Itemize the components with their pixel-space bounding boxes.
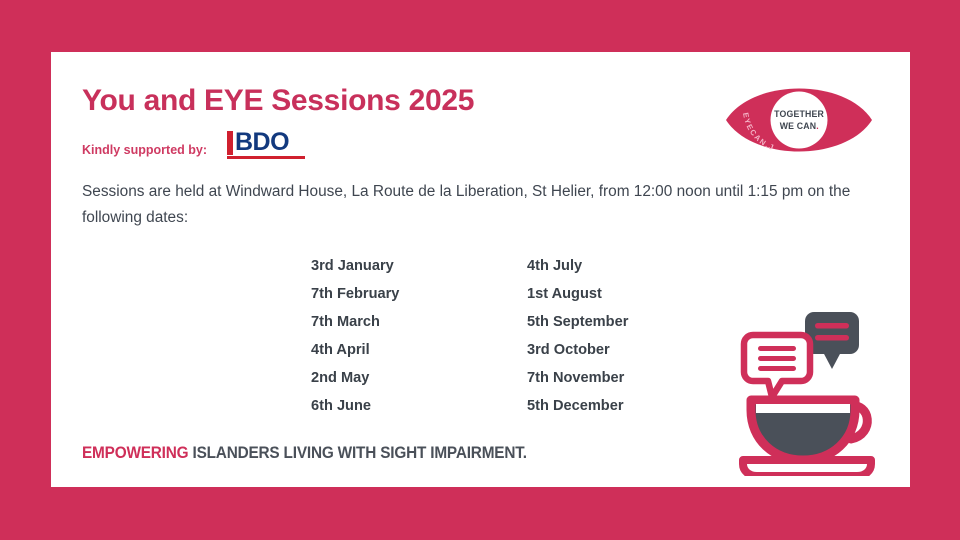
eye-pupil-circle	[771, 92, 828, 149]
speech-bubble-light-icon	[744, 335, 810, 397]
page-title: You and EYE Sessions 2025	[82, 84, 474, 118]
list-item: 2nd May	[311, 364, 527, 392]
supported-by-label: Kindly supported by:	[82, 143, 207, 157]
list-item: 6th June	[311, 392, 527, 420]
bdo-underline-shape	[227, 156, 305, 160]
footer-tagline: EMPOWERING ISLANDERS LIVING WITH SIGHT I…	[82, 444, 527, 463]
list-item: 4th July	[527, 252, 743, 280]
eyecan-eye-logo: EYECAN.JE TOGETHER WE CAN.	[723, 74, 875, 166]
white-content-card: You and EYE Sessions 2025 Kindly support…	[51, 52, 910, 487]
list-item: 5th September	[527, 308, 743, 336]
list-item: 3rd October	[527, 336, 743, 364]
list-item: 1st August	[527, 280, 743, 308]
bdo-bracket-shape	[227, 131, 233, 155]
saucer-shape	[743, 460, 871, 476]
list-item: 7th November	[527, 364, 743, 392]
cup-rim-shape	[756, 404, 850, 413]
coffee-cup-with-speech-bubbles-illustration	[737, 310, 897, 476]
session-dates-list: 3rd January 7th February 7th March 4th A…	[311, 252, 743, 420]
list-item: 5th December	[527, 392, 743, 420]
poster-canvas: You and EYE Sessions 2025 Kindly support…	[0, 0, 960, 540]
list-item: 7th February	[311, 280, 527, 308]
tagline-rest: ISLANDERS LIVING WITH SIGHT IMPAIRMENT.	[188, 444, 526, 462]
dates-column-2: 4th July 1st August 5th September 3rd Oc…	[527, 252, 743, 420]
tagline-highlight: EMPOWERING	[82, 444, 188, 462]
list-item: 3rd January	[311, 252, 527, 280]
list-item: 4th April	[311, 336, 527, 364]
bdo-logo: BDO	[227, 129, 305, 161]
session-details-paragraph: Sessions are held at Windward House, La …	[82, 179, 882, 231]
bdo-logo-text: BDO	[235, 129, 289, 155]
dates-column-1: 3rd January 7th February 7th March 4th A…	[311, 252, 527, 420]
list-item: 7th March	[311, 308, 527, 336]
